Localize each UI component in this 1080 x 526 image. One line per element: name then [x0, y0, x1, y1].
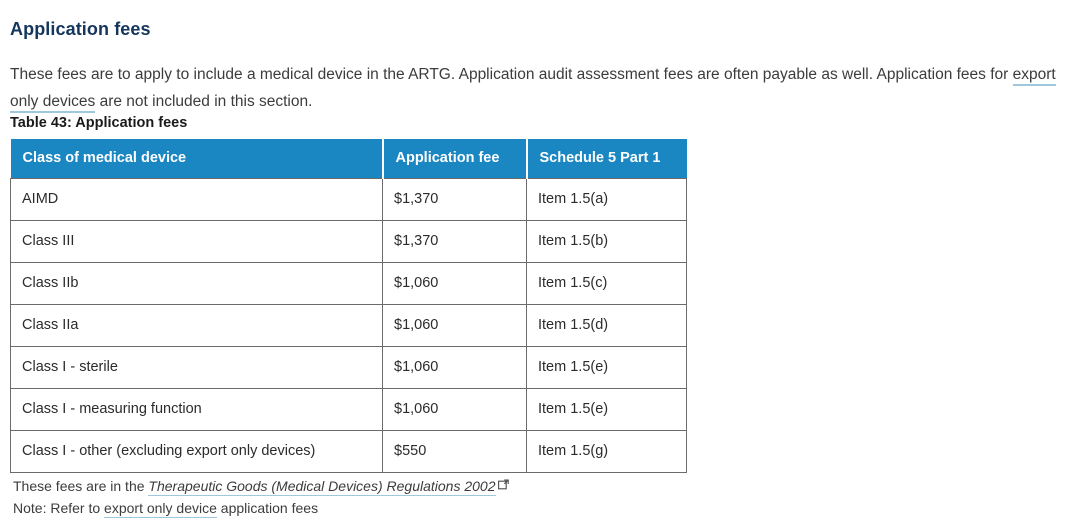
- cell-device-class: Class IIa: [11, 305, 383, 347]
- table-row: Class III $1,370 Item 1.5(b): [11, 221, 687, 263]
- table-row: Class IIb $1,060 Item 1.5(c): [11, 263, 687, 305]
- external-link-icon: [498, 479, 509, 490]
- column-header-application-fee: Application fee: [383, 139, 527, 179]
- page-title: Application fees: [10, 17, 151, 41]
- note-prefix: Note: Refer to: [13, 500, 104, 516]
- table-header-row: Class of medical device Application fee …: [11, 139, 687, 179]
- cell-device-class: Class IIb: [11, 263, 383, 305]
- column-header-class: Class of medical device: [11, 139, 383, 179]
- note-suffix: application fees: [217, 500, 318, 516]
- cell-application-fee: $550: [383, 431, 527, 473]
- table-row: Class I - measuring function $1,060 Item…: [11, 389, 687, 431]
- cell-device-class: Class I - other (excluding export only d…: [11, 431, 383, 473]
- cell-device-class: AIMD: [11, 179, 383, 221]
- export-only-device-fees-link[interactable]: export only device: [104, 500, 217, 518]
- table-row: Class I - other (excluding export only d…: [11, 431, 687, 473]
- cell-application-fee: $1,370: [383, 221, 527, 263]
- cell-schedule-item: Item 1.5(g): [527, 431, 687, 473]
- table-footnotes: These fees are in the Therapeutic Goods …: [13, 475, 509, 519]
- cell-schedule-item: Item 1.5(b): [527, 221, 687, 263]
- cell-schedule-item: Item 1.5(e): [527, 347, 687, 389]
- cell-application-fee: $1,060: [383, 263, 527, 305]
- intro-paragraph: These fees are to apply to include a med…: [10, 61, 1072, 115]
- footnote-regulations: These fees are in the Therapeutic Goods …: [13, 475, 509, 497]
- footnote-prefix: These fees are in the: [13, 478, 148, 494]
- cell-application-fee: $1,060: [383, 389, 527, 431]
- cell-schedule-item: Item 1.5(e): [527, 389, 687, 431]
- cell-application-fee: $1,370: [383, 179, 527, 221]
- intro-text-before-link: These fees are to apply to include a med…: [10, 66, 1013, 83]
- table-row: Class I - sterile $1,060 Item 1.5(e): [11, 347, 687, 389]
- table-body: AIMD $1,370 Item 1.5(a) Class III $1,370…: [11, 179, 687, 473]
- intro-text-after-link: are not included in this section.: [95, 93, 312, 110]
- column-header-schedule: Schedule 5 Part 1: [527, 139, 687, 179]
- cell-schedule-item: Item 1.5(a): [527, 179, 687, 221]
- cell-device-class: Class I - sterile: [11, 347, 383, 389]
- application-fees-table: Class of medical device Application fee …: [10, 139, 687, 473]
- therapeutic-goods-regulations-link[interactable]: Therapeutic Goods (Medical Devices) Regu…: [148, 478, 495, 496]
- cell-schedule-item: Item 1.5(d): [527, 305, 687, 347]
- cell-device-class: Class III: [11, 221, 383, 263]
- table-head: Class of medical device Application fee …: [11, 139, 687, 179]
- cell-schedule-item: Item 1.5(c): [527, 263, 687, 305]
- document-page: Application fees These fees are to apply…: [0, 0, 1080, 526]
- cell-application-fee: $1,060: [383, 347, 527, 389]
- cell-application-fee: $1,060: [383, 305, 527, 347]
- footnote-note: Note: Refer to export only device applic…: [13, 497, 509, 519]
- cell-device-class: Class I - measuring function: [11, 389, 383, 431]
- table-caption: Table 43: Application fees: [10, 113, 187, 133]
- table-row: Class IIa $1,060 Item 1.5(d): [11, 305, 687, 347]
- table-row: AIMD $1,370 Item 1.5(a): [11, 179, 687, 221]
